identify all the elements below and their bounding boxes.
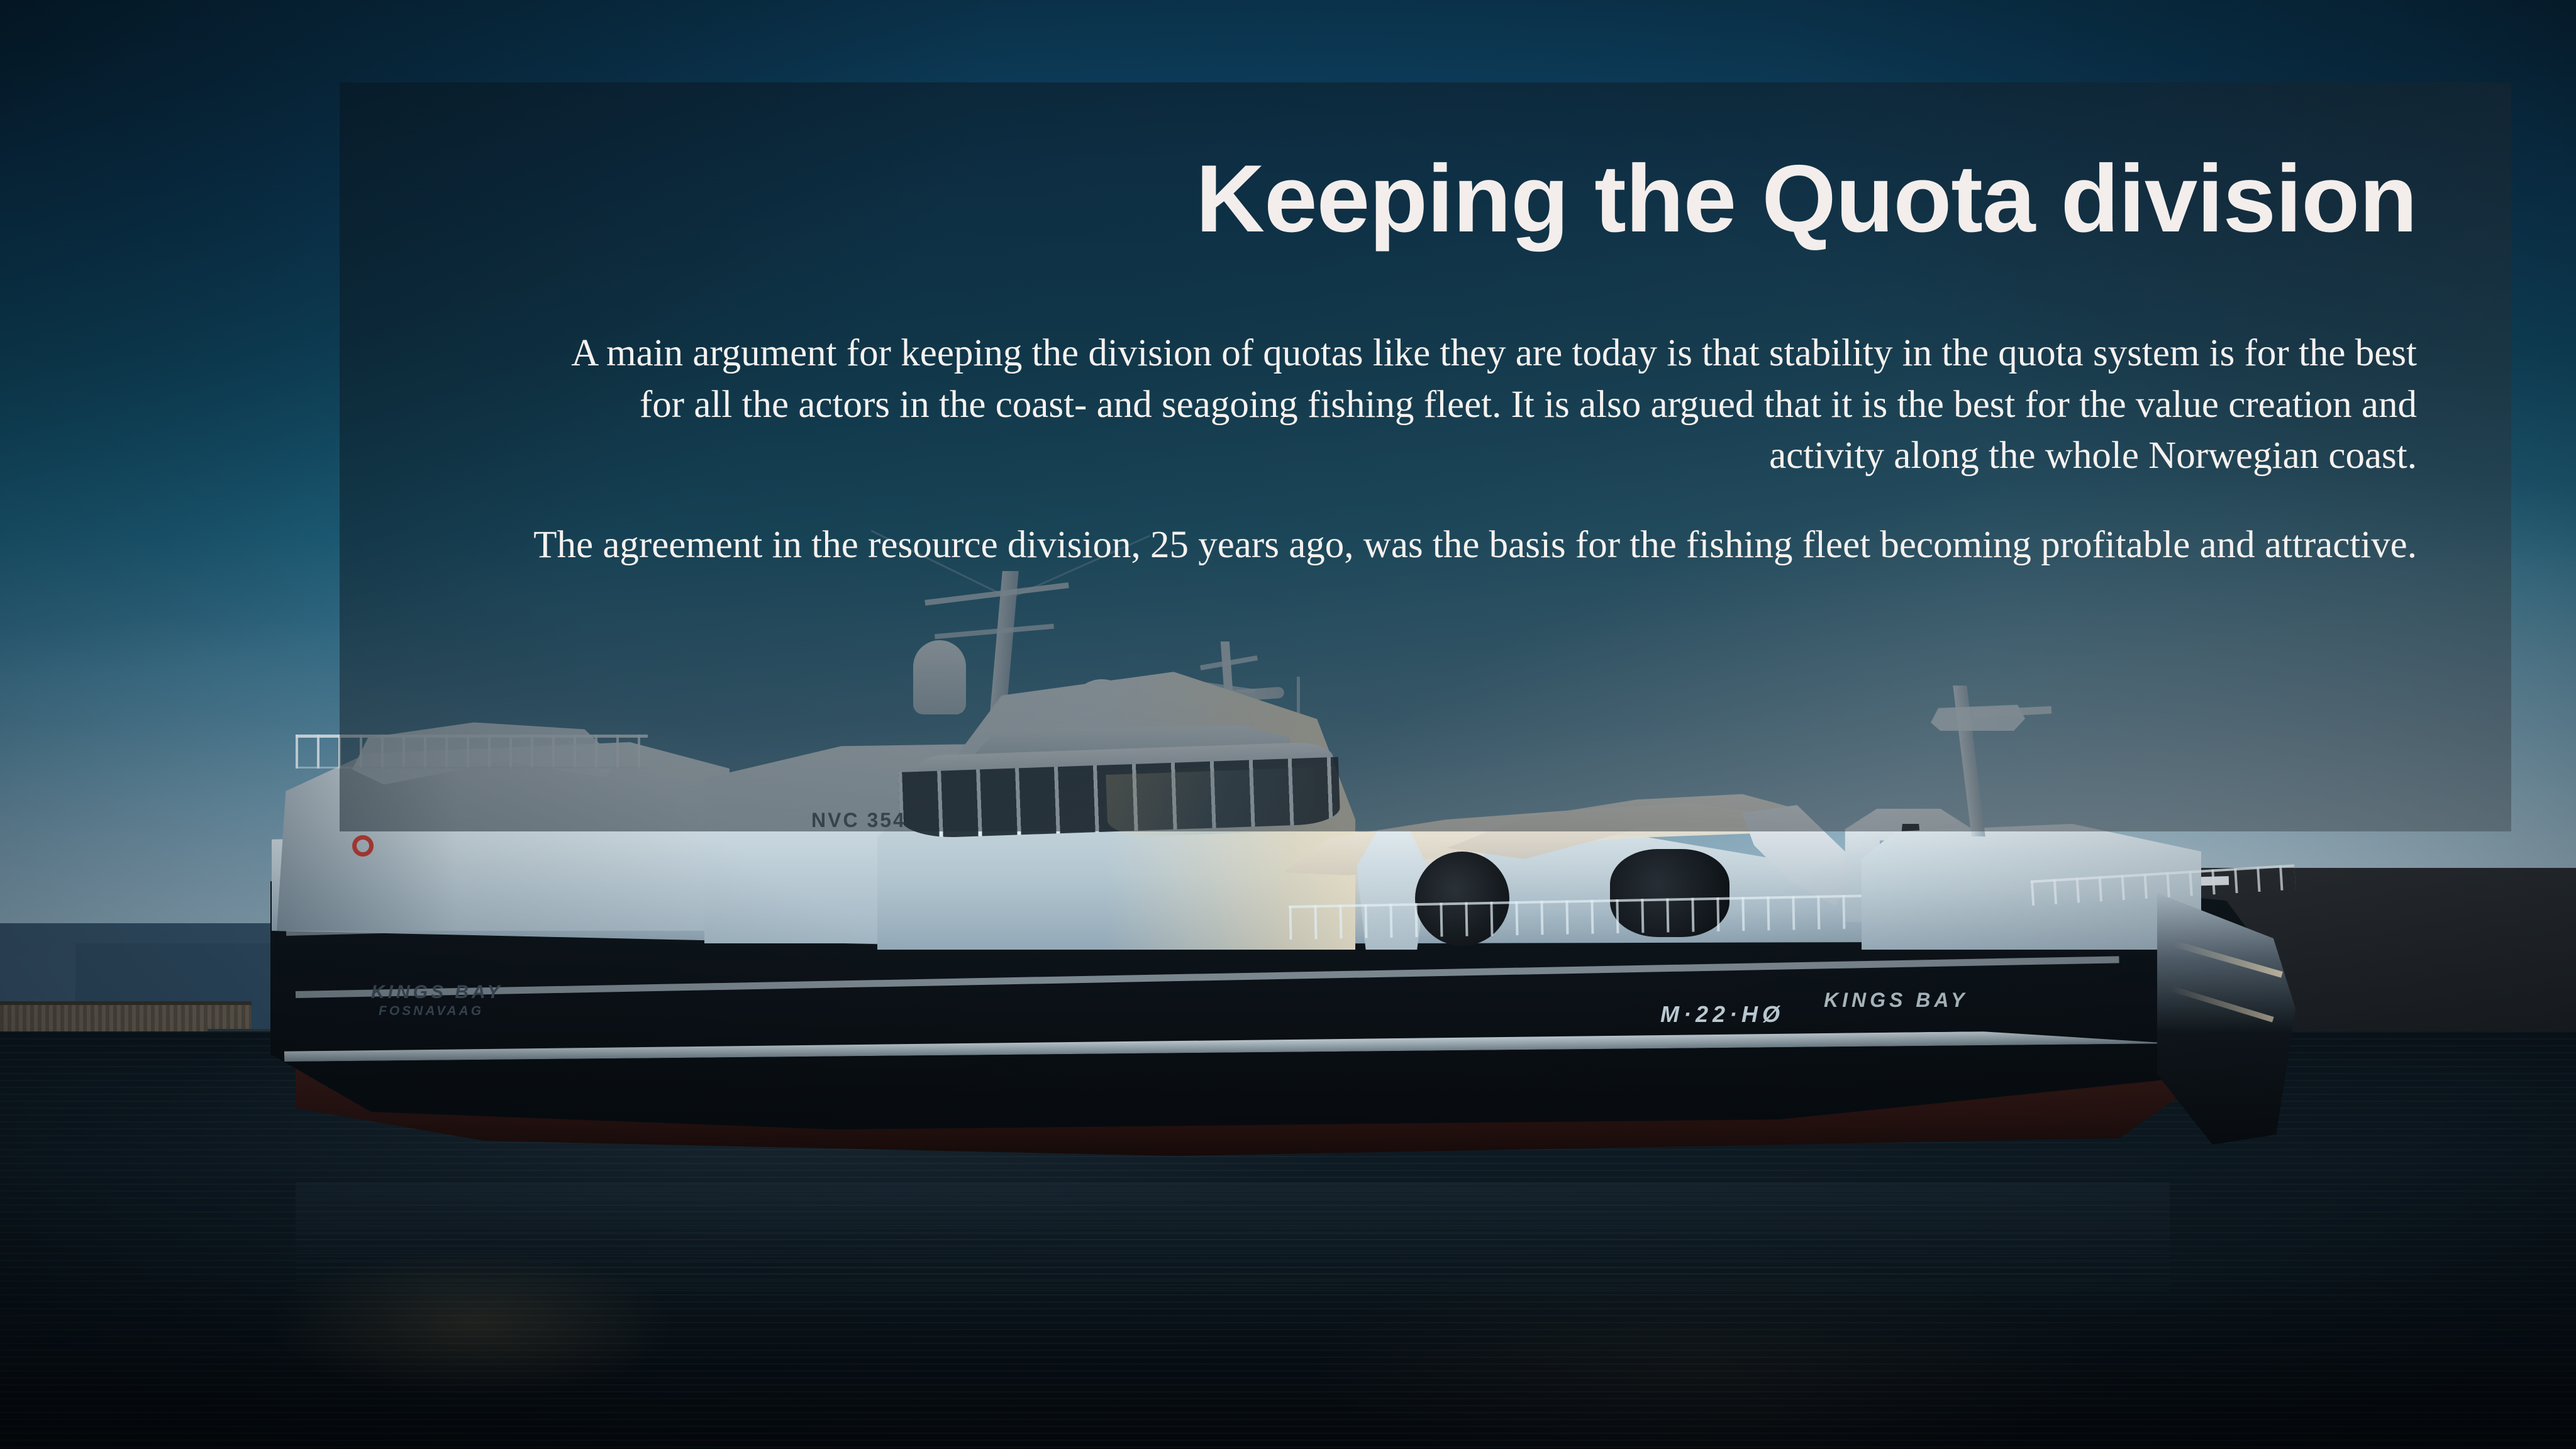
paragraph-spacer <box>530 482 2417 519</box>
hull-registration-text: M·22·HØ <box>1660 1001 1784 1028</box>
bow-home-port-text: FOSNAVAAG <box>379 1004 484 1019</box>
bow-stem <box>2157 893 2296 1145</box>
hull-name-text: KINGS BAY <box>1824 989 1968 1012</box>
text-overlay-panel: Keeping the Quota division A main argume… <box>340 82 2511 831</box>
slide-title: Keeping the Quota division <box>1196 150 2417 248</box>
vessel-water-reflection <box>296 1182 2170 1296</box>
slide-body: A main argument for keeping the division… <box>530 328 2417 571</box>
life-ring-icon <box>352 835 374 857</box>
bow-name-text: KINGS BAY <box>371 982 502 1003</box>
presentation-slide: NVC 354 M·22·HØ KINGS BAY KINGS BAY FOSN… <box>0 0 2576 1449</box>
body-paragraph-2: The agreement in the resource division, … <box>530 519 2417 571</box>
body-paragraph-1: A main argument for keeping the division… <box>530 328 2417 482</box>
